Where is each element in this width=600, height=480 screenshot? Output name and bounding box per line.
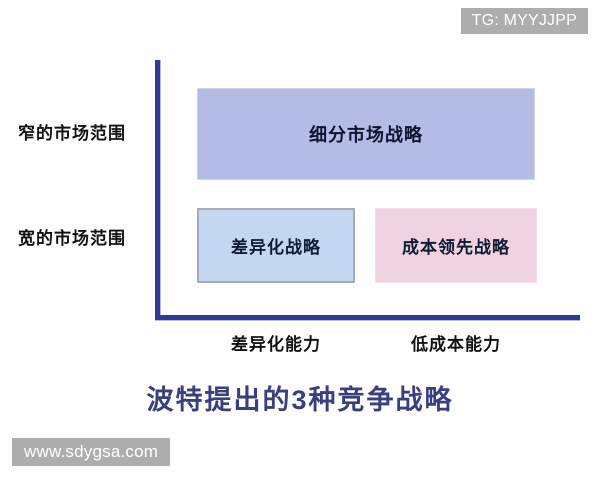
diagram-title: 波特提出的3种竞争战略	[0, 378, 600, 417]
x-axis-label-lowcost: 低成本能力	[375, 330, 537, 355]
diagram-canvas: TG: MYYJJPP 窄的市场范围 宽的市场范围 细分市场战略 差异化战略 成…	[0, 0, 600, 480]
strategy-box-focus[interactable]: 细分市场战略	[197, 88, 535, 180]
strategy-box-differentiation-label: 差异化战略	[231, 233, 321, 258]
strategy-box-cost-leadership[interactable]: 成本领先战略	[375, 208, 537, 283]
strategy-box-cost-leadership-label: 成本领先战略	[402, 233, 510, 258]
y-axis-label-broad: 宽的市场范围	[18, 229, 148, 249]
strategy-box-focus-label: 细分市场战略	[309, 121, 423, 147]
y-axis-line	[155, 60, 160, 320]
y-axis-label-narrow: 窄的市场范围	[18, 124, 148, 144]
strategy-box-differentiation[interactable]: 差异化战略	[197, 208, 355, 283]
watermark-top-right: TG: MYYJJPP	[461, 8, 588, 34]
x-axis-label-differentiation: 差异化能力	[197, 330, 355, 355]
watermark-bottom-left: www.sdygsa.com	[12, 438, 170, 466]
x-axis-line	[155, 315, 580, 320]
